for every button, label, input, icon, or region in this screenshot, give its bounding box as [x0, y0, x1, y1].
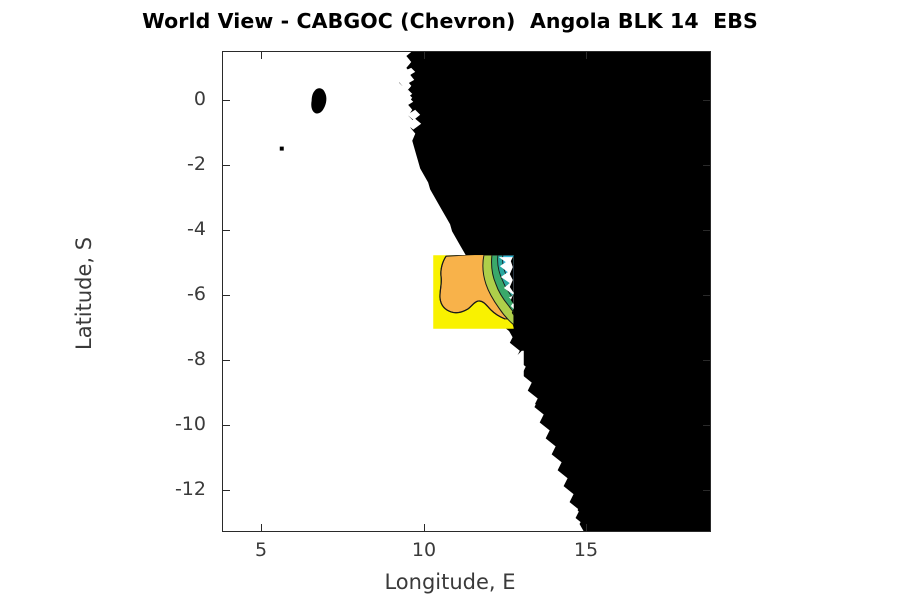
ytick-label-m10: -10: [146, 415, 206, 434]
xtick-mark-top-10: [424, 51, 425, 59]
ytick-label-m2: -2: [146, 155, 206, 174]
ytick-mark-m6: [222, 295, 230, 296]
ytick-mark-right-m4: [703, 230, 711, 231]
ytick-mark-right-m12: [703, 490, 711, 491]
ytick-label-m4: -4: [146, 220, 206, 239]
ytick-mark-m2: [222, 165, 230, 166]
ytick-mark-m4: [222, 230, 230, 231]
xtick-mark-5: [261, 524, 262, 532]
x-axis-label: Longitude, E: [0, 570, 900, 594]
xtick-mark-top-15: [586, 51, 587, 59]
y-axis-label: Latitude, S: [72, 237, 96, 350]
ytick-label-m12: -12: [146, 480, 206, 499]
ytick-label-m6: -6: [146, 285, 206, 304]
xtick-label-5: 5: [221, 541, 301, 560]
xtick-label-15: 15: [546, 541, 626, 560]
xtick-label-10: 10: [384, 541, 464, 560]
ytick-mark-right-m6: [703, 295, 711, 296]
xtick-mark-10: [424, 524, 425, 532]
ytick-mark-0: [222, 100, 230, 101]
figure-canvas: World View - CABGOC (Chevron) Angola BLK…: [0, 0, 900, 600]
ytick-label-0: 0: [146, 90, 206, 109]
chart-title: World View - CABGOC (Chevron) Angola BLK…: [0, 9, 900, 33]
ytick-mark-right-m2: [703, 165, 711, 166]
ytick-mark-m10: [222, 425, 230, 426]
ytick-mark-right-m10: [703, 425, 711, 426]
ytick-label-m8: -8: [146, 350, 206, 369]
island-annobon: [280, 147, 284, 151]
ytick-mark-right-0: [703, 100, 711, 101]
map-canvas: [223, 52, 710, 531]
ytick-mark-right-m8: [703, 360, 711, 361]
ytick-mark-m8: [222, 360, 230, 361]
contour-region-group[interactable]: [433, 252, 518, 329]
xtick-mark-15: [586, 524, 587, 532]
xtick-mark-top-5: [261, 51, 262, 59]
map-axes[interactable]: [222, 51, 711, 532]
ytick-mark-m12: [222, 490, 230, 491]
